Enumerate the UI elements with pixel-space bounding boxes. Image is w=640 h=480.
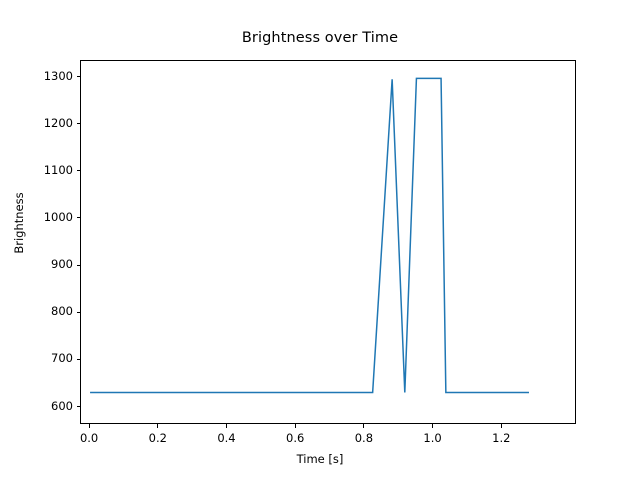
y-tick-label: 700 [51,351,73,365]
y-tick-label: 1200 [44,116,73,130]
x-tick-mark [226,424,227,428]
x-tick-mark [295,424,296,428]
x-axis-label: Time [s] [0,452,640,466]
x-tick-label: 0.8 [334,431,394,445]
y-tick-label: 900 [51,257,73,271]
x-tick-label: 0.2 [128,431,188,445]
brightness-line-series [90,78,529,392]
x-tick-label: 0.0 [59,431,119,445]
plot-area [80,60,576,424]
x-tick-label: 1.2 [471,431,531,445]
x-tick-label: 0.6 [265,431,325,445]
chart-title: Brightness over Time [0,30,640,46]
y-tick-label: 800 [51,304,73,318]
y-tick-label: 600 [51,399,73,413]
y-axis-label: Brightness [12,168,26,278]
figure-canvas: Brightness over Time 6007008009001000110… [0,0,640,480]
x-tick-mark [501,424,502,428]
y-tick-label: 1300 [44,69,73,83]
x-tick-mark [157,424,158,428]
data-line-svg [81,61,575,423]
x-tick-label: 0.4 [196,431,256,445]
x-tick-mark [432,424,433,428]
y-tick-label: 1000 [44,210,73,224]
y-tick-label: 1100 [44,163,73,177]
x-tick-mark [363,424,364,428]
x-tick-label: 1.0 [403,431,463,445]
x-tick-mark [89,424,90,428]
